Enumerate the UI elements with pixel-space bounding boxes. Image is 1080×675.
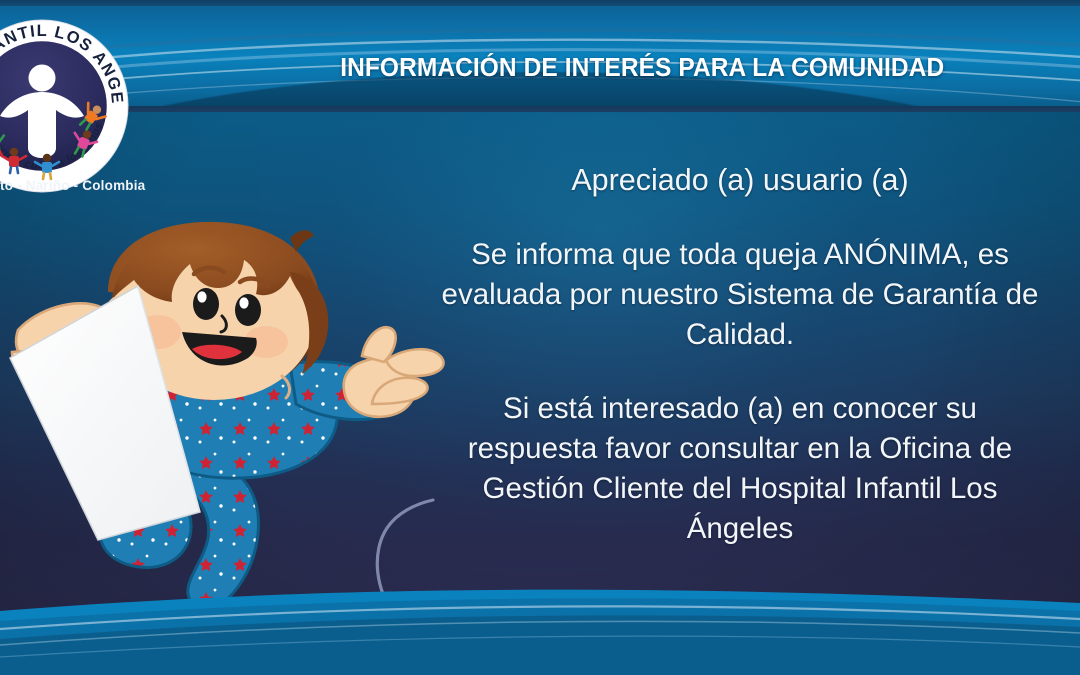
anonymous-complaint-paragraph: Se informa que toda queja ANÓNIMA, es ev… <box>440 235 1040 355</box>
page-title: INFORMACIÓN DE INTERÉS PARA LA COMUNIDAD <box>0 54 1037 83</box>
footer-band <box>0 587 1080 675</box>
client-office-paragraph: Si está interesado (a) en conocer su res… <box>440 389 1040 549</box>
greeting-line: Apreciado (a) usuario (a) <box>440 160 1040 201</box>
mascot-illustration <box>0 212 460 612</box>
boy-with-sheet-icon <box>0 212 460 612</box>
footer-wave-lines <box>0 587 1080 675</box>
logo-location-label: to - Nariño - Colombia <box>0 178 140 193</box>
slide-canvas: INFORMACIÓN DE INTERÉS PARA LA COMUNIDAD <box>0 0 1080 675</box>
message-body: Apreciado (a) usuario (a) Se informa que… <box>440 160 1040 549</box>
header-bottom-rule <box>0 106 1080 112</box>
hospital-logo: L INFANTIL LOS ANGELES a, protege y cuid… <box>0 16 132 196</box>
logo-badge-icon: L INFANTIL LOS ANGELES a, protege y cuid… <box>0 16 132 196</box>
